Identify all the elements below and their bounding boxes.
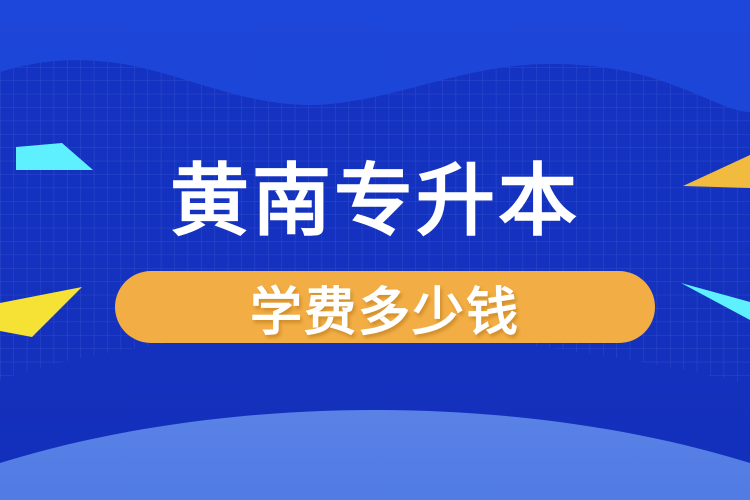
subtitle-text: 学费多少钱 (115, 271, 655, 343)
cyan-triangle-right-icon (681, 283, 750, 320)
decorative-shapes-layer (0, 0, 750, 500)
promo-banner: 黄南专升本 学费多少钱 (0, 0, 750, 500)
yellow-triangle-left-icon (0, 287, 82, 337)
banner-title: 黄南专升本 (0, 158, 750, 244)
